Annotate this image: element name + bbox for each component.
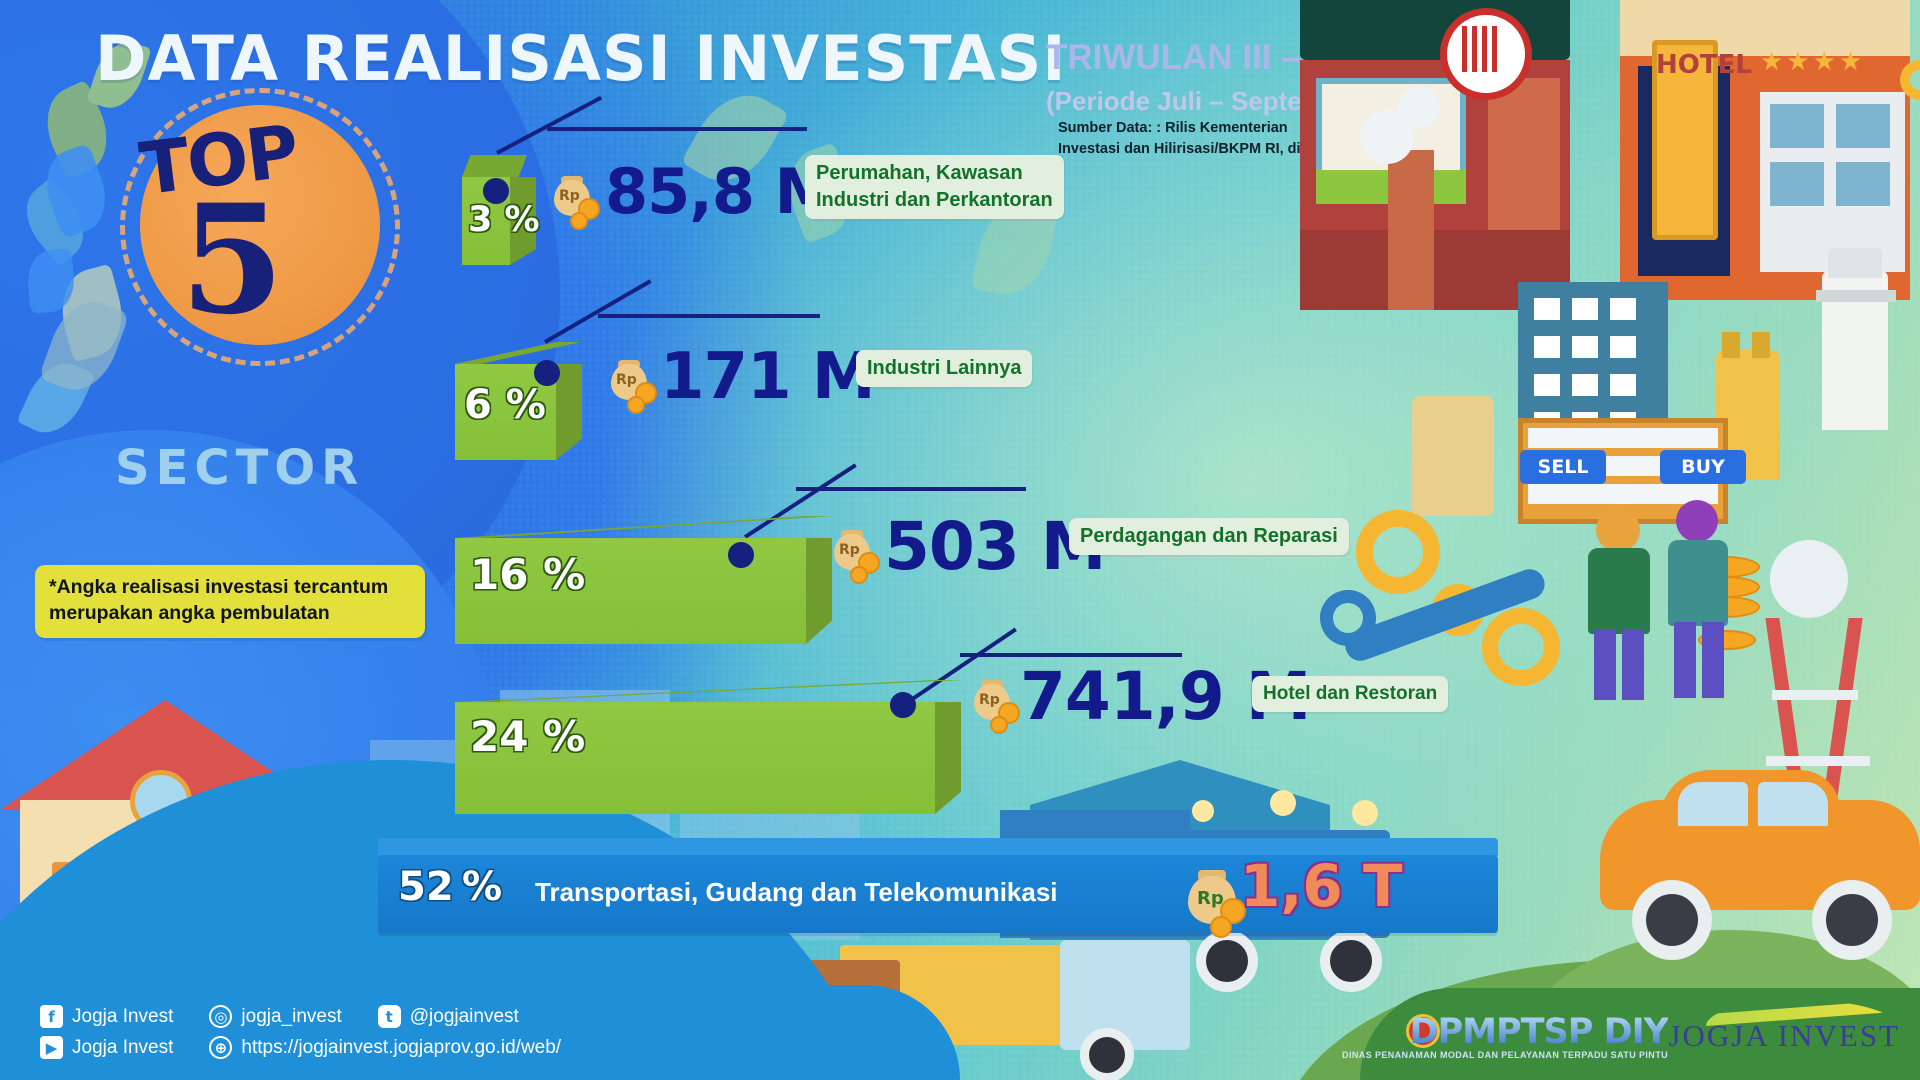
tower-window [1572,374,1598,396]
youtube-handle[interactable]: Jogja Invest [72,1037,173,1059]
bar-label-4: Hotel dan Restoran [1252,676,1448,712]
person-leg [1594,630,1616,700]
car-wheel [1812,880,1892,960]
tower-cross-beam [1766,756,1870,766]
dump-truck-cabin [1060,940,1190,1050]
money-bag-icon-3: Rp [828,522,884,580]
money-bag-icon-2: Rp [605,352,661,410]
person-head [1676,500,1718,542]
bar-label-3: Perdagangan dan Reparasi [1069,518,1349,555]
bar-marker-dot-4 [890,692,916,718]
lighthouse-lantern [1828,248,1882,278]
youtube-icon[interactable]: ▶ [40,1036,63,1059]
dpmptsp-logo-subtitle: DINAS PENANAMAN MODAL DAN PELAYANAN TERP… [1342,1050,1668,1060]
bar-percent-1: 3 % [468,200,540,240]
hotel-window [1770,104,1824,148]
source-note: Sumber Data: : Rilis Kementerian Investa… [1058,118,1330,160]
person-leg [1702,622,1724,698]
instagram-handle[interactable]: jogja_invest [241,1006,341,1028]
tower-window [1610,374,1636,396]
tower-window [1534,336,1560,358]
bar-label-1: Perumahan, Kawasan Industri dan Perkanto… [805,155,1064,219]
gear-icon [1356,510,1440,594]
cutlery-icon [1462,26,1467,72]
bar-percent-3: 16 % [470,550,585,599]
person-leg [1622,630,1644,700]
buy-button[interactable]: BUY [1660,450,1746,484]
bar-value-5: 1,6 T [1240,852,1403,920]
tower-window [1572,336,1598,358]
rounding-note: *Angka realisasi investasi tercantum mer… [35,565,425,638]
tower-window [1610,298,1636,320]
car-window [1758,782,1828,826]
page-title: DATA REALISASI INVESTASI [95,22,1066,95]
tank-pipe [1752,332,1770,358]
car-window [1678,782,1748,826]
badge-number: 5 [180,185,284,335]
bar-label-1-line2: Industri dan Perkantoran [816,187,1053,214]
cutlery-icon [1492,26,1497,72]
tank-pipe [1722,332,1740,358]
tower-window [1534,298,1560,320]
tower-leg [1823,618,1862,798]
person-leg [1674,622,1696,698]
storage-tank [1412,396,1494,516]
jogja-invest-logo-text: JOGJA INVEST [1668,1018,1900,1054]
bar-label-5: Transportasi, Gudang dan Telekomunikasi [535,877,1058,908]
person-head [1596,508,1640,552]
lamp-icon [1270,790,1296,816]
badge-sector-word: SECTOR [115,440,364,496]
gear-icon [1482,608,1560,686]
source-line-1: Sumber Data: : Rilis Kementerian [1058,118,1330,139]
facebook-icon[interactable]: f [40,1005,63,1028]
footer-social: f Jogja Invest ◎ jogja_invest t @jogjain… [40,1005,561,1067]
twitter-handle[interactable]: @jogjainvest [410,1006,519,1028]
bar-marker-dot-3 [728,542,754,568]
instagram-icon[interactable]: ◎ [209,1005,232,1028]
car-wheel [1632,880,1712,960]
leader-line-horizontal [598,314,820,318]
source-line-2: Investasi dan Hilirisasi/BKPM RI, diolah [1058,139,1330,160]
leader-line-diagonal [544,279,652,343]
money-bag-icon-1: Rp [548,168,604,226]
tower-window [1610,336,1636,358]
twitter-icon[interactable]: t [378,1005,401,1028]
leader-line-horizontal [796,487,1026,491]
truck-wheel [1320,930,1382,992]
money-bag-icon-5: Rp [1182,862,1248,932]
lamp-icon [1352,800,1378,826]
market-board-row [1528,428,1718,448]
bar-label-2: Industri Lainnya [856,350,1032,387]
person-body [1588,548,1650,634]
bar-marker-dot-2 [534,360,560,386]
bar-value-2: 171 M [660,340,875,414]
money-bag-icon-4: Rp [968,672,1024,730]
infographic-canvas: DATA REALISASI INVESTASI TRIWULAN III – … [0,0,1920,1080]
hotel-window [1836,104,1890,148]
tower-cross-beam [1772,690,1858,700]
lighthouse-gallery [1816,290,1896,302]
factory-chimney [1388,150,1434,310]
truck-wheel [1080,1028,1134,1080]
bar-percent-5-symbol: % [462,864,502,910]
bar-marker-dot-1 [483,178,509,204]
sell-button[interactable]: SELL [1520,450,1606,484]
bar-value-1: 85,8 M [605,155,835,228]
truck-wheel [1196,930,1258,992]
satellite-dish-icon [1770,540,1848,618]
hotel-window [1836,162,1890,206]
bar-label-1-line1: Perumahan, Kawasan [816,160,1053,187]
tower-window [1572,298,1598,320]
bar-percent-4: 24 % [470,712,585,761]
cutlery-icon [1472,26,1477,72]
globe-icon[interactable]: ⊕ [209,1036,232,1059]
facebook-handle[interactable]: Jogja Invest [72,1006,173,1028]
hotel-stars-icon: ★★★★ [1760,46,1905,72]
bar-percent-5-number: 52 [398,864,454,910]
bar-percent-2: 6 % [464,382,546,428]
lamp-icon [1192,800,1214,822]
tower-window [1534,374,1560,396]
cutlery-icon [1482,26,1487,72]
leader-line-horizontal [547,127,807,131]
hotel-window [1770,162,1824,206]
leader-line-horizontal [960,653,1182,657]
hotel-sign-label: HOTEL [1656,52,1714,79]
smoke-puff-icon [1398,86,1440,128]
dpmptsp-logo-text: DPMPTSP DIY [1409,1012,1668,1052]
website-url[interactable]: https://jogjainvest.jogjaprov.go.id/web/ [241,1037,561,1059]
person-body [1668,540,1728,626]
